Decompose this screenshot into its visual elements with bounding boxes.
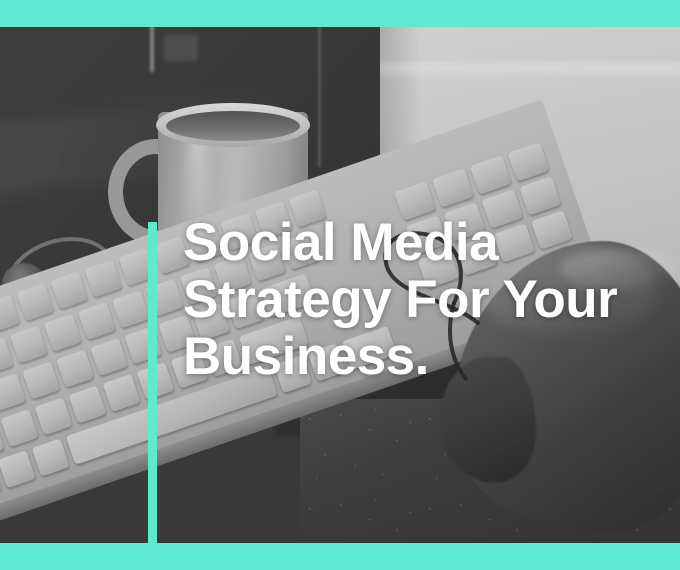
backdrop-chip bbox=[164, 35, 198, 61]
key bbox=[112, 290, 150, 328]
key bbox=[50, 271, 88, 309]
backdrop-highlight bbox=[150, 27, 154, 72]
key bbox=[16, 283, 54, 321]
key bbox=[44, 314, 82, 352]
key bbox=[78, 302, 116, 340]
key bbox=[0, 409, 38, 447]
monitor-edge bbox=[318, 27, 321, 167]
key bbox=[0, 373, 26, 411]
mug-rim-inner bbox=[166, 111, 300, 141]
vertical-accent-bar bbox=[148, 222, 157, 543]
headline-line-2: Strategy For Your bbox=[183, 271, 617, 328]
key bbox=[10, 325, 48, 363]
top-accent-bar bbox=[0, 0, 680, 27]
key bbox=[34, 397, 72, 435]
headline-line-1: Social Media bbox=[183, 214, 617, 271]
key bbox=[84, 260, 122, 298]
key bbox=[69, 386, 107, 424]
key bbox=[56, 350, 94, 388]
key bbox=[103, 374, 141, 412]
bottom-accent-bar bbox=[0, 543, 680, 570]
key bbox=[90, 338, 128, 376]
page-title: Social Media Strategy For Your Business. bbox=[183, 214, 617, 385]
key bbox=[32, 438, 70, 476]
key bbox=[0, 295, 20, 333]
key bbox=[22, 361, 60, 399]
headline-line-3: Business. bbox=[183, 328, 617, 385]
key bbox=[0, 450, 36, 488]
social-media-poster: Social Media Strategy For Your Business. bbox=[0, 0, 680, 570]
desk-seam bbox=[340, 63, 680, 81]
